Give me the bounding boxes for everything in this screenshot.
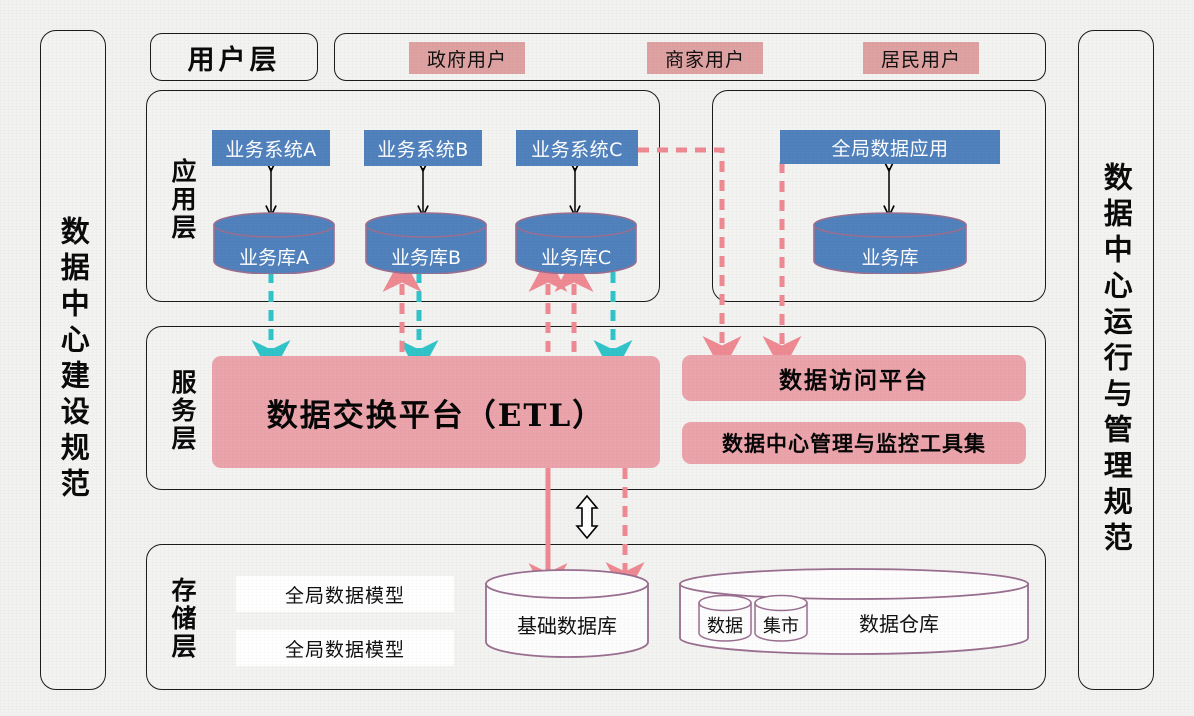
cylinder-business-db-b[interactable]: 业务库B xyxy=(364,212,488,274)
etl-platform-label: 数据交换平台（ETL） xyxy=(267,390,606,435)
app-box-system-a[interactable]: 业务系统A xyxy=(212,130,330,166)
monitor-toolset-block[interactable]: 数据中心管理与监控工具集 xyxy=(682,422,1026,464)
global-data-model-box-1[interactable]: 全局数据模型 xyxy=(236,576,454,612)
cylinder-shape xyxy=(514,212,638,274)
data-access-platform-label: 数据访问平台 xyxy=(779,361,929,395)
app-box-label: 业务系统B xyxy=(377,135,469,162)
global-data-model-box-2[interactable]: 全局数据模型 xyxy=(236,630,454,666)
app-box-label: 业务系统A xyxy=(225,135,317,162)
cylinder-global-business-db[interactable]: 业务库 xyxy=(812,212,968,274)
monitor-toolset-label: 数据中心管理与监控工具集 xyxy=(722,428,986,458)
cylinder-business-db-c[interactable]: 业务库C xyxy=(514,212,638,274)
data-access-platform-block[interactable]: 数据访问平台 xyxy=(682,355,1026,401)
cylinder-shape xyxy=(697,594,753,642)
app-box-system-b[interactable]: 业务系统B xyxy=(364,130,482,166)
app-box-global-data-app[interactable]: 全局数据应用 xyxy=(780,130,1000,164)
cylinder-shape xyxy=(484,568,650,658)
cylinder-shape xyxy=(212,212,336,274)
link-service-storage xyxy=(577,496,597,538)
cylinder-data-mart-2[interactable]: 集市 xyxy=(753,594,809,642)
app-box-system-c[interactable]: 业务系统C xyxy=(516,130,638,166)
app-box-label: 全局数据应用 xyxy=(831,134,948,161)
flow-sysc-to-access xyxy=(638,150,722,352)
cylinder-base-database[interactable]: 基础数据库 xyxy=(484,568,650,658)
global-data-model-label: 全局数据模型 xyxy=(285,635,405,662)
cylinder-shape xyxy=(753,594,809,642)
cylinder-shape xyxy=(812,212,968,274)
cylinder-shape xyxy=(364,212,488,274)
app-box-label: 业务系统C xyxy=(531,135,623,162)
etl-platform-block[interactable]: 数据交换平台（ETL） xyxy=(212,356,660,468)
cylinder-data-mart-1[interactable]: 数据 xyxy=(697,594,753,642)
cylinder-business-db-a[interactable]: 业务库A xyxy=(212,212,336,274)
global-data-model-label: 全局数据模型 xyxy=(285,581,405,608)
